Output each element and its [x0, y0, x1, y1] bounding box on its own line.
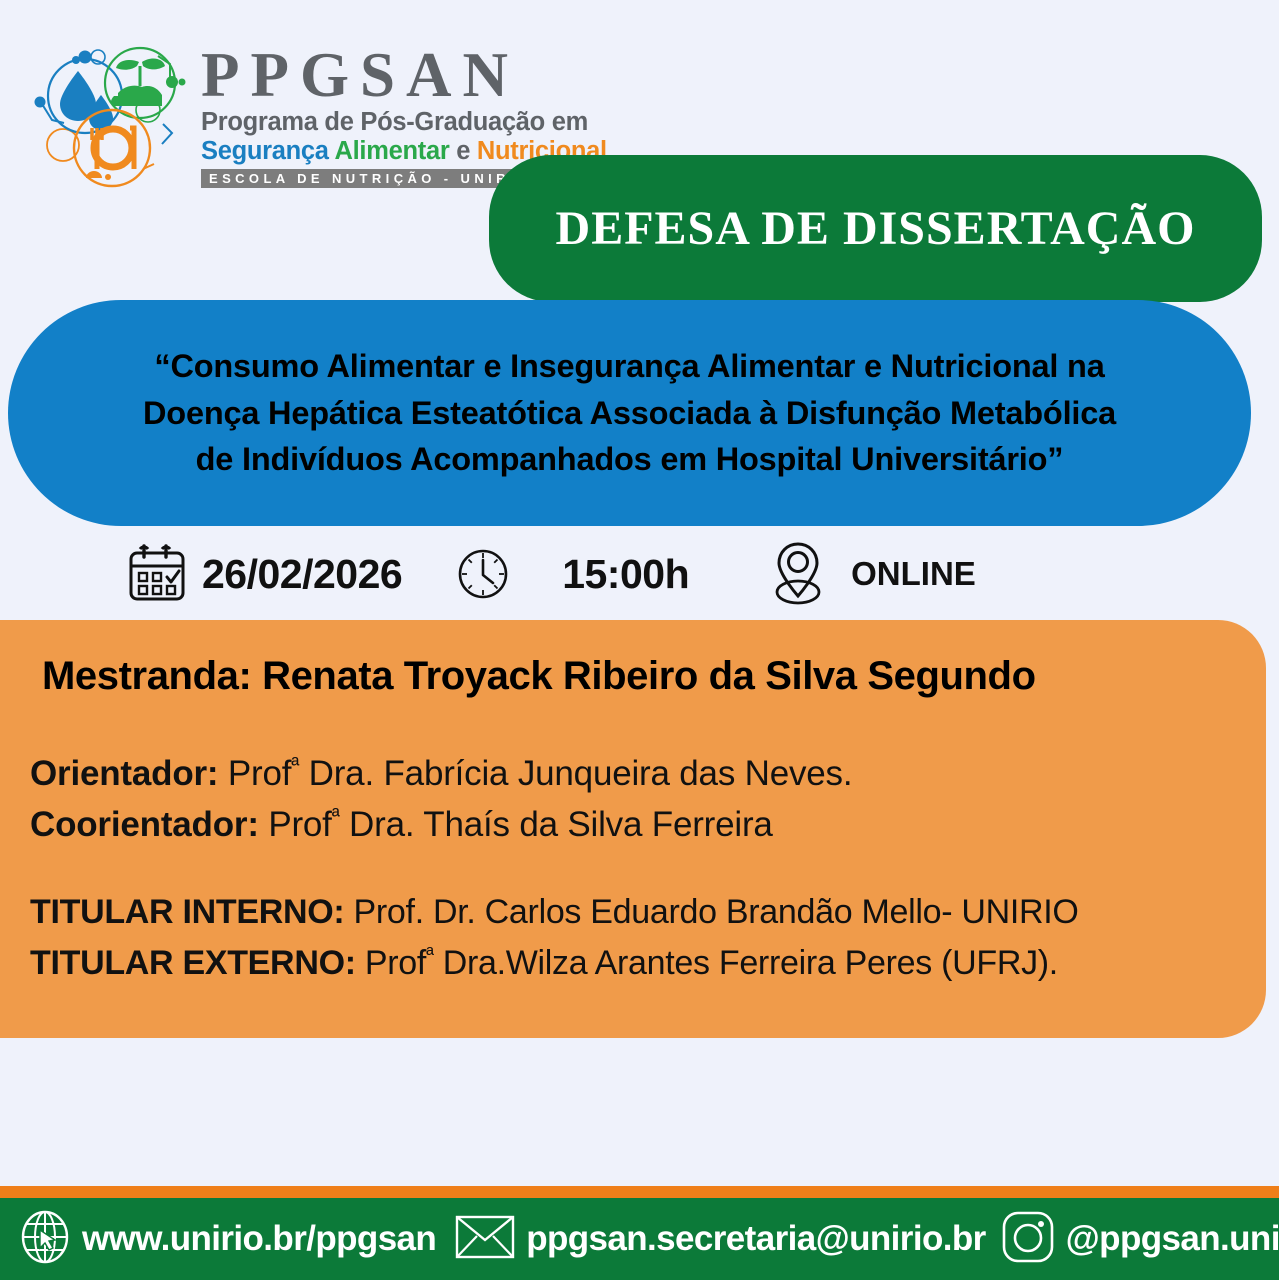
logo-word-alimentar: Alimentar [335, 137, 457, 165]
globe-icon [16, 1208, 74, 1271]
logo-school-tag: ESCOLA DE NUTRIÇÃO - UNIRIO [201, 169, 538, 188]
external-member-sup: ª [426, 943, 434, 966]
envelope-icon [454, 1212, 516, 1267]
thesis-title-line-2: Doença Hepática Esteatótica Associada à … [143, 390, 1116, 437]
event-location-text: ONLINE [851, 555, 976, 593]
advisor-name: Dra. Fabrícia Junqueira das Neves. [299, 754, 852, 793]
calendar-icon [126, 543, 188, 605]
defense-banner: DEFESA DE DISSERTAÇÃO [489, 155, 1262, 302]
poster-root: PPGSAN Programa de Pós-Graduação em Segu… [0, 0, 1279, 1280]
thesis-title-line-3: de Indivíduos Acompanhados em Hospital U… [196, 436, 1064, 483]
footer-orange-stripe [0, 1186, 1279, 1198]
internal-member-name: Prof. Dr. Carlos Eduardo Brandão Mello- … [344, 893, 1078, 931]
thesis-title-block: “Consumo Alimentar e Insegurança Aliment… [8, 300, 1251, 526]
external-member-prefix: Prof [356, 944, 426, 982]
footer-email-text[interactable]: ppgsan.secretaria@unirio.br [526, 1219, 985, 1259]
logo-word-e: e [456, 137, 477, 165]
logo-word-seguranca: Segurança [201, 137, 335, 165]
internal-member-line: TITULAR INTERNO: Prof. Dr. Carlos Eduard… [30, 887, 1266, 938]
event-info-row: 26/02/2026 [0, 528, 1279, 620]
panel-group: TITULAR INTERNO: Prof. Dr. Carlos Eduard… [30, 887, 1266, 989]
sponsor-logo-strip: UNIRIO Universidade Federal do Estado do… [0, 1060, 1279, 1190]
logo-acronym: PPGSAN [201, 46, 607, 106]
footer-website[interactable]: www.unirio.br/ppgsan [16, 1208, 436, 1271]
footer-instagram[interactable]: @ppgsan.unirio [1000, 1209, 1279, 1270]
advisors-group: Orientador: Profª Dra. Fabrícia Junqueir… [30, 749, 1266, 851]
coadvisor-label: Coorientador: [30, 805, 259, 844]
internal-member-label: TITULAR INTERNO: [30, 893, 344, 931]
event-date: 26/02/2026 [126, 543, 402, 605]
clock-icon [454, 545, 512, 603]
coadvisor-line: Coorientador: Profª Dra. Thaís da Silva … [30, 800, 1266, 851]
logo-subtitle-line1: Programa de Pós-Graduação em [201, 108, 607, 137]
footer-contact-bar: www.unirio.br/ppgsan ppgsan.secretaria@u… [0, 1198, 1279, 1280]
external-member-name: Dra.Wilza Arantes Ferreira Peres (UFRJ). [434, 944, 1058, 982]
external-member-label: TITULAR EXTERNO: [30, 944, 356, 982]
student-line: Mestranda: Renata Troyack Ribeiro da Sil… [42, 654, 1266, 699]
event-time: 15:00h [454, 545, 689, 603]
advisor-sup: ª [291, 752, 299, 777]
instagram-icon [1000, 1209, 1056, 1270]
footer-website-text[interactable]: www.unirio.br/ppgsan [82, 1219, 436, 1259]
event-date-text: 26/02/2026 [202, 551, 402, 598]
thesis-title-line-1: “Consumo Alimentar e Insegurança Aliment… [154, 343, 1104, 390]
footer-instagram-text[interactable]: @ppgsan.unirio [1066, 1219, 1279, 1259]
external-member-line: TITULAR EXTERNO: Profª Dra.Wilza Arantes… [30, 938, 1266, 989]
coadvisor-name: Dra. Thaís da Silva Ferreira [340, 805, 773, 844]
map-pin-icon [767, 540, 829, 608]
event-location: ONLINE [767, 540, 976, 608]
coadvisor-sup: ª [332, 803, 340, 828]
advisor-prefix: Prof [228, 754, 291, 793]
ppgsan-logo-mark-icon [30, 38, 195, 188]
event-time-text: 15:00h [562, 551, 689, 598]
footer-email[interactable]: ppgsan.secretaria@unirio.br [454, 1212, 985, 1267]
advisor-line: Orientador: Profª Dra. Fabrícia Junqueir… [30, 749, 1266, 800]
defense-banner-title: DEFESA DE DISSERTAÇÃO [556, 201, 1196, 256]
advisor-label: Orientador: [30, 754, 218, 793]
ppgsan-logo: PPGSAN Programa de Pós-Graduação em Segu… [30, 38, 530, 193]
people-block: Mestranda: Renata Troyack Ribeiro da Sil… [0, 620, 1266, 1038]
coadvisor-prefix: Prof [268, 805, 331, 844]
